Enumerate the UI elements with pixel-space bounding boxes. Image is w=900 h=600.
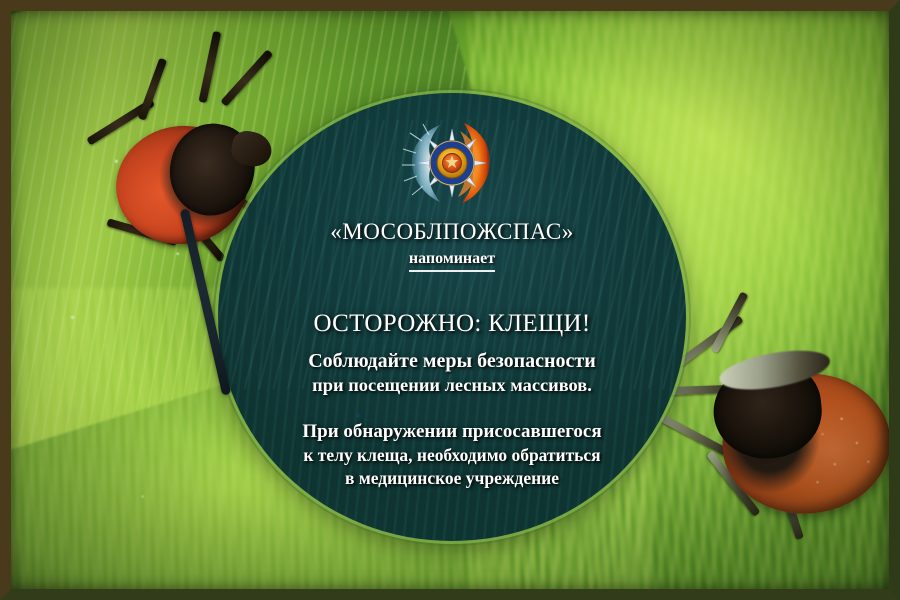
emblem-star-icon: [418, 129, 486, 197]
safety-p2-line-2: к телу клеща, необходимо обратиться: [232, 444, 672, 467]
poster-root: «МОСОБЛПОЖСПАС» напоминает ОСТОРОЖНО: КЛ…: [0, 0, 900, 600]
safety-p2-line-1: При обнаружении присосавшегося: [232, 420, 672, 445]
info-oval-panel: «МОСОБЛПОЖСПАС» напоминает ОСТОРОЖНО: КЛ…: [218, 93, 686, 541]
safety-paragraph-2: При обнаружении присосавшегося к телу кл…: [232, 420, 672, 490]
safety-paragraph-1: Соблюдайте меры безопасности при посещен…: [232, 348, 672, 398]
safety-p1-line-1: Соблюдайте меры безопасности: [232, 348, 672, 374]
emchs-star-emblem: [398, 115, 506, 211]
reminds-label: напоминает: [409, 250, 495, 272]
safety-p1-line-2: при посещении лесных массивов.: [232, 374, 672, 398]
warning-headline: ОСТОРОЖНО: КЛЕЩИ!: [232, 310, 672, 339]
photo-background: «МОСОБЛПОЖСПАС» напоминает ОСТОРОЖНО: КЛ…: [11, 11, 889, 589]
message-content: «МОСОБЛПОЖСПАС» напоминает ОСТОРОЖНО: КЛ…: [218, 219, 686, 490]
organization-name: «МОСОБЛПОЖСПАС»: [232, 219, 672, 244]
safety-p2-line-3: в медицинское учреждение: [232, 467, 672, 490]
